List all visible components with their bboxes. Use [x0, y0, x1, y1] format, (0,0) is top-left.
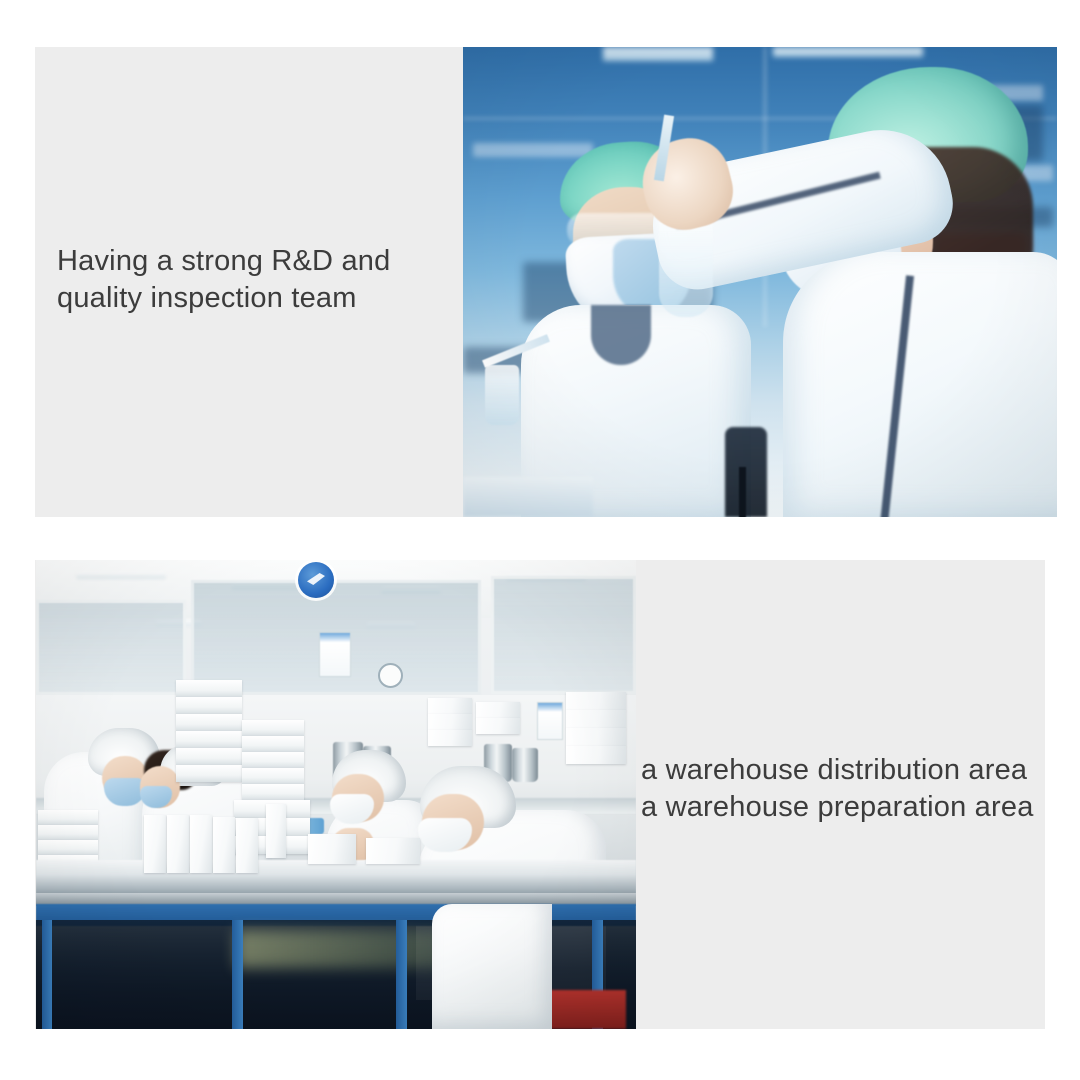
ceiling-light-icon: [76, 572, 166, 579]
carton-stack-item: [566, 728, 626, 746]
carton-stack-item: [176, 731, 242, 748]
sample-vial: [485, 365, 519, 425]
stainless-canister: [512, 748, 538, 782]
lab-quality-inspection-photo: [463, 47, 1057, 517]
carton-stack-item: [176, 714, 242, 731]
upright-carton: [144, 815, 166, 873]
stainless-work-table: [36, 860, 636, 896]
lab-stand-rod: [739, 467, 746, 517]
carton-stack-item: [176, 697, 242, 714]
carton-stack-item: [38, 840, 98, 855]
carton-stack-item: [476, 702, 520, 718]
notice-board: [537, 702, 563, 740]
carton-stack-item: [308, 834, 356, 864]
worker-b-lab-coat: [783, 252, 1057, 517]
carton-stack-item: [366, 838, 420, 864]
lab-bench: [463, 477, 593, 517]
upright-carton: [190, 815, 212, 873]
upright-carton: [213, 817, 235, 873]
carton-stack-item: [566, 746, 626, 764]
lab-stand: [725, 427, 767, 517]
carton-stack-item: [428, 714, 472, 730]
upright-carton: [167, 815, 189, 873]
wall-clock-icon: [378, 663, 403, 688]
carton-stack-item: [428, 698, 472, 714]
carton-stack-item: [242, 720, 304, 736]
table-leg: [396, 920, 407, 1029]
ceiling-light-icon: [603, 47, 713, 61]
carton-stack-item: [242, 784, 304, 800]
background-shelf: [473, 143, 593, 157]
worker-4-coat-lower: [432, 904, 552, 1029]
upright-carton: [236, 818, 258, 873]
worker-a-collar: [591, 305, 651, 365]
table-leg: [232, 920, 243, 1029]
carton-stack-item: [428, 730, 472, 746]
carton-stack-item: [242, 736, 304, 752]
warehouse-caption-text: a warehouse distribution area a warehous…: [641, 752, 1041, 826]
warehouse-packing-photo: [36, 560, 636, 1029]
carton-stack-item: [476, 718, 520, 734]
carton-stack-item: [566, 692, 626, 710]
carton-stack-item: [176, 680, 242, 697]
upright-carton: [266, 804, 286, 858]
notice-board: [319, 632, 351, 677]
carton-stack-item: [242, 768, 304, 784]
cleanroom-window-left: [36, 600, 186, 695]
table-leg: [42, 920, 52, 1029]
carton-stack-item: [566, 710, 626, 728]
carton-stack-item: [242, 752, 304, 768]
carton-stack-item: [176, 748, 242, 765]
carton-stack-item: [38, 825, 98, 840]
rnd-caption-text: Having a strong R&D and quality inspecti…: [57, 243, 457, 317]
carton-stack-item: [38, 810, 98, 825]
ceiling-light-secondary-icon: [773, 47, 923, 57]
cleanroom-window-right: [491, 576, 636, 694]
carton-stack-item: [176, 765, 242, 782]
